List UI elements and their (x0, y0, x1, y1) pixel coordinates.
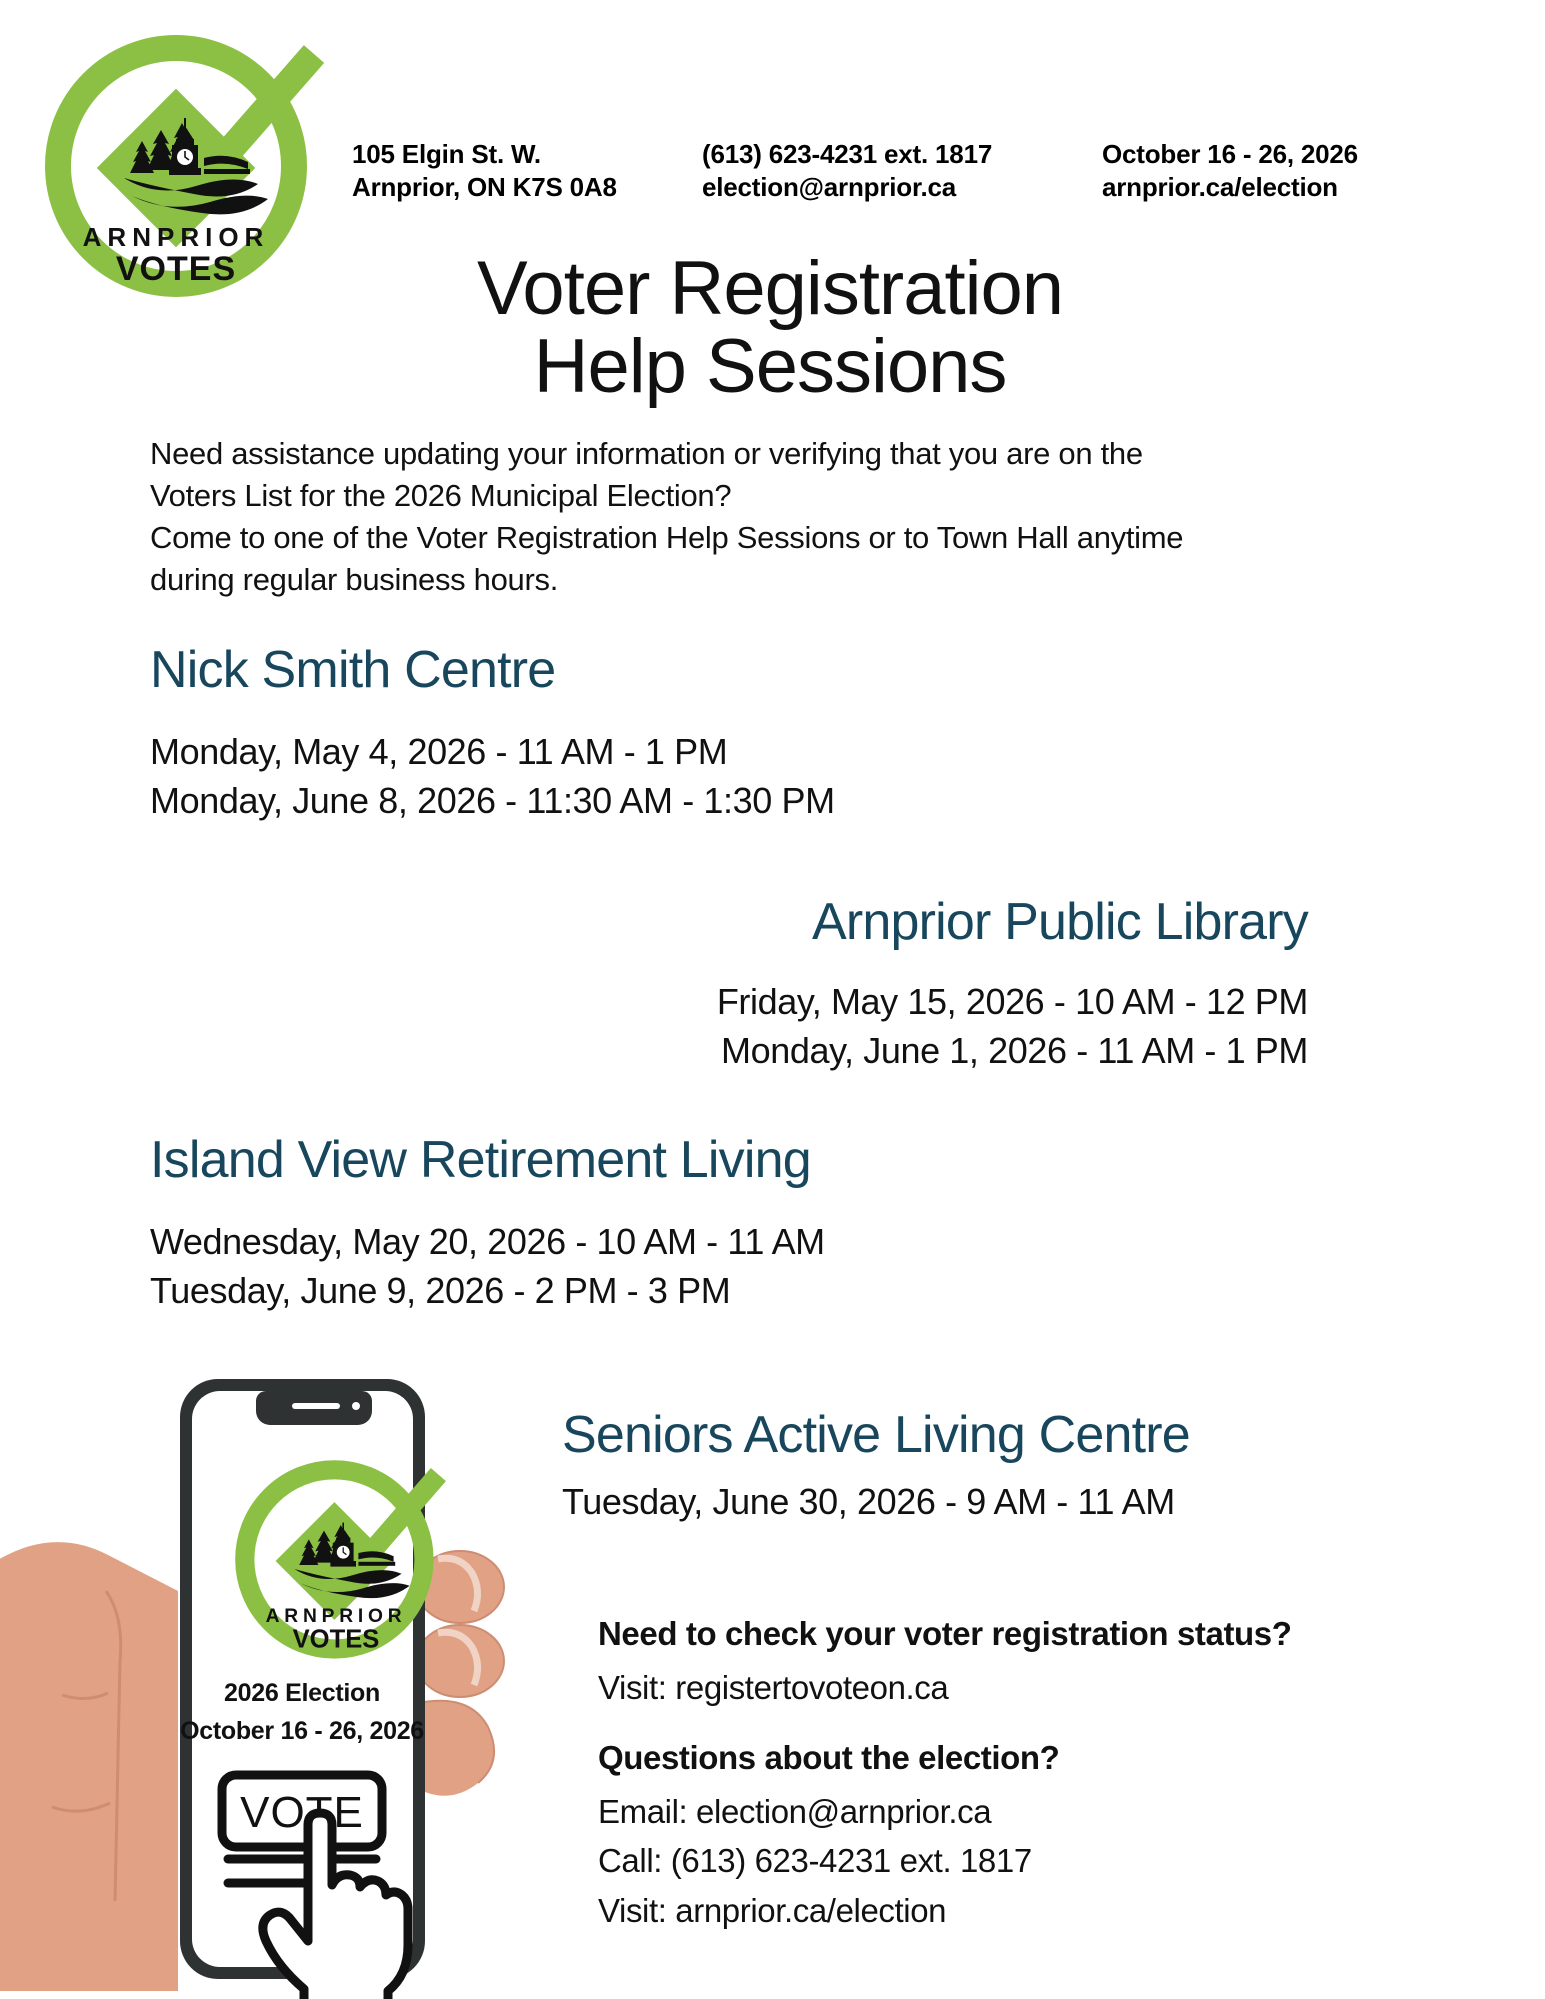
header-address-line2: Arnprior, ON K7S 0A8 (352, 171, 702, 204)
header-election-dates: October 16 - 26, 2026 (1102, 138, 1462, 171)
venue-sessions-seniors-active-living-centre: Tuesday, June 30, 2026 - 9 AM - 11 AM (562, 1478, 1175, 1527)
header-website[interactable]: arnprior.ca/election (1102, 171, 1462, 204)
contact-question-registration-status: Need to check your voter registration st… (598, 1610, 1498, 1658)
logo-wordmark-arnprior: ARNPRIOR (83, 222, 270, 252)
venue-heading-arnprior-public-library: Arnprior Public Library (812, 895, 1308, 950)
header-address: 105 Elgin St. W. Arnprior, ON K7S 0A8 (352, 138, 702, 203)
phone-election-label: 2026 Election (224, 1679, 380, 1707)
header-phone: (613) 623-4231 ext. 1817 (702, 138, 1102, 171)
contact-help-block: Need to check your voter registration st… (598, 1610, 1498, 1937)
header-contact-strip: 105 Elgin St. W. Arnprior, ON K7S 0A8 (6… (352, 138, 1472, 203)
header-address-line1: 105 Elgin St. W. (352, 138, 702, 171)
session-line: Tuesday, June 30, 2026 - 9 AM - 11 AM (562, 1478, 1175, 1527)
phone-speaker (292, 1403, 340, 1409)
page-title-line2: Help Sessions (150, 328, 1390, 406)
header-email[interactable]: election@arnprior.ca (702, 171, 1102, 204)
venue-heading-nick-smith-centre: Nick Smith Centre (150, 643, 555, 698)
contact-answer-email[interactable]: Email: election@arnprior.ca (598, 1788, 1498, 1836)
session-line: Tuesday, June 9, 2026 - 2 PM - 3 PM (150, 1267, 825, 1316)
phone-camera-icon (352, 1402, 360, 1410)
venue-heading-seniors-active-living-centre: Seniors Active Living Centre (562, 1408, 1190, 1463)
venue-sessions-island-view-retirement-living: Wednesday, May 20, 2026 - 10 AM - 11 AM … (150, 1218, 825, 1316)
header-dates-website: October 16 - 26, 2026 arnprior.ca/electi… (1102, 138, 1462, 203)
session-line: Monday, May 4, 2026 - 11 AM - 1 PM (150, 728, 835, 777)
header-phone-email: (613) 623-4231 ext. 1817 election@arnpri… (702, 138, 1102, 203)
intro-line-1: Need assistance updating your informatio… (150, 433, 1370, 475)
contact-answer-phone[interactable]: Call: (613) 623-4231 ext. 1817 (598, 1837, 1498, 1885)
phone-in-hand-illustration: ARNPRIOR VOTES 2026 Election October 16 … (0, 1355, 560, 1999)
hand-illustration (0, 1542, 178, 1991)
contact-question-election: Questions about the election? (598, 1734, 1498, 1782)
phone-logo-wordmark-arnprior: ARNPRIOR (266, 1606, 407, 1627)
page-title-line1: Voter Registration (150, 250, 1390, 328)
session-line: Monday, June 8, 2026 - 11:30 AM - 1:30 P… (150, 777, 835, 826)
session-line: Wednesday, May 20, 2026 - 10 AM - 11 AM (150, 1218, 825, 1267)
vote-button-label: VOTE (240, 1788, 364, 1837)
intro-line-2: Voters List for the 2026 Municipal Elect… (150, 475, 1370, 517)
phone-in-hand-graphic: ARNPRIOR VOTES 2026 Election October 16 … (0, 1355, 560, 1999)
session-line: Friday, May 15, 2026 - 10 AM - 12 PM (717, 978, 1308, 1027)
intro-paragraph: Need assistance updating your informatio… (150, 433, 1370, 602)
contact-answer-register-site[interactable]: Visit: registertovoteon.ca (598, 1664, 1498, 1712)
session-line: Monday, June 1, 2026 - 11 AM - 1 PM (717, 1027, 1308, 1076)
phone-logo-wordmark-votes: VOTES (293, 1625, 380, 1653)
phone-election-dates: October 16 - 26, 2026 (180, 1717, 424, 1745)
venue-sessions-nick-smith-centre: Monday, May 4, 2026 - 11 AM - 1 PM Monda… (150, 728, 835, 826)
venue-sessions-arnprior-public-library: Friday, May 15, 2026 - 10 AM - 12 PM Mon… (717, 978, 1308, 1076)
intro-line-3: Come to one of the Voter Registration He… (150, 517, 1370, 559)
page-title: Voter Registration Help Sessions (150, 250, 1390, 405)
contact-answer-website[interactable]: Visit: arnprior.ca/election (598, 1887, 1498, 1935)
venue-heading-island-view-retirement-living: Island View Retirement Living (150, 1133, 811, 1188)
intro-line-4: during regular business hours. (150, 559, 1370, 601)
